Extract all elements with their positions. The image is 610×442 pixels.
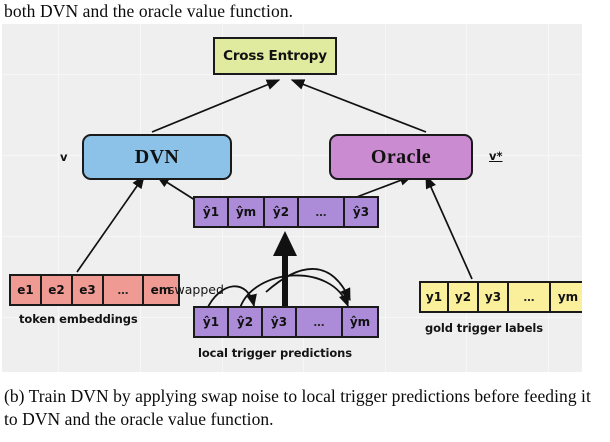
top-body-text: both DVN and the oracle value function. bbox=[4, 0, 604, 22]
grid-line-vertical bbox=[140, 24, 141, 372]
grid-line-horizontal bbox=[2, 236, 582, 237]
cell-gold-4[interactable]: ym bbox=[549, 281, 582, 313]
caption-gold-trigger-labels: gold trigger labels bbox=[425, 321, 543, 335]
cell-local-4[interactable]: ŷm bbox=[341, 306, 379, 338]
figure-canvas: Cross Entropy DVN Oracle v v* ŷ1 ŷm ŷ2 …… bbox=[2, 24, 582, 372]
cell-gold-1[interactable]: y2 bbox=[447, 281, 479, 313]
grid-line-vertical bbox=[548, 24, 549, 372]
cell-noisy-1[interactable]: ŷm bbox=[227, 196, 265, 228]
node-dvn-label: DVN bbox=[135, 146, 180, 169]
row-gold-trigger-labels: y1 y2 y3 … ym bbox=[419, 281, 582, 313]
cell-embedding-1[interactable]: e2 bbox=[40, 274, 73, 306]
cell-embedding-0[interactable]: e1 bbox=[9, 274, 42, 306]
label-v: v bbox=[60, 150, 68, 164]
node-cross-entropy[interactable]: Cross Entropy bbox=[213, 37, 337, 75]
cell-embedding-2[interactable]: e3 bbox=[71, 274, 104, 306]
label-swapped: swapped bbox=[168, 282, 224, 297]
caption-token-embeddings: token embeddings bbox=[19, 312, 138, 326]
row-local-trigger-predictions: ŷ1 ŷ2 ŷ3 … ŷm bbox=[193, 306, 379, 338]
cell-local-2[interactable]: ŷ3 bbox=[261, 306, 297, 338]
cell-gold-0[interactable]: y1 bbox=[419, 281, 449, 313]
node-dvn[interactable]: DVN bbox=[82, 134, 232, 180]
cell-local-ellipsis: … bbox=[295, 306, 343, 338]
cell-embedding-ellipsis: … bbox=[102, 274, 144, 306]
grid-line-vertical bbox=[385, 24, 386, 372]
cell-local-1[interactable]: ŷ2 bbox=[227, 306, 263, 338]
cell-gold-ellipsis: … bbox=[507, 281, 551, 313]
label-v-star: v* bbox=[489, 149, 503, 163]
node-oracle-label: Oracle bbox=[371, 146, 431, 169]
row-token-embeddings: e1 e2 e3 … em bbox=[9, 274, 180, 306]
caption-local-trigger-predictions: local trigger predictions bbox=[198, 346, 352, 360]
cell-local-0[interactable]: ŷ1 bbox=[193, 306, 229, 338]
figure-caption: (b) Train DVN by applying swap noise to … bbox=[4, 385, 604, 431]
cell-noisy-0[interactable]: ŷ1 bbox=[193, 196, 229, 228]
node-cross-entropy-label: Cross Entropy bbox=[223, 48, 327, 64]
cell-noisy-4[interactable]: ŷ3 bbox=[343, 196, 379, 228]
cell-noisy-2[interactable]: ŷ2 bbox=[263, 196, 299, 228]
cell-gold-2[interactable]: y3 bbox=[477, 281, 509, 313]
grid-line-vertical bbox=[466, 24, 467, 372]
cell-noisy-ellipsis: … bbox=[297, 196, 345, 228]
node-oracle[interactable]: Oracle bbox=[329, 134, 473, 180]
row-noisy-predictions: ŷ1 ŷm ŷ2 … ŷ3 bbox=[193, 196, 379, 228]
